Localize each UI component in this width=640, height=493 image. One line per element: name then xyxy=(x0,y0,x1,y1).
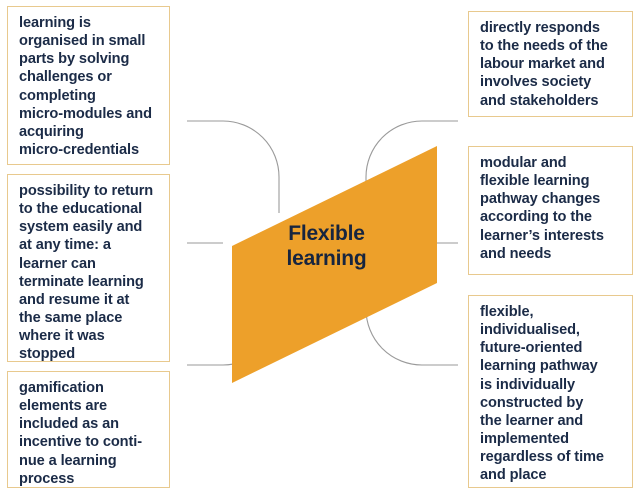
info-box-text: flexible, individualised, future-oriente… xyxy=(480,303,604,485)
info-box-right-3: flexible, individualised, future-oriente… xyxy=(468,295,633,488)
diagram-canvas: learning is organised in small parts by … xyxy=(0,0,640,493)
bracket-top-left-icon xyxy=(187,121,279,213)
info-box-left-2: possibility to return to the educational… xyxy=(7,174,170,362)
info-box-right-2: modular and flexible learning pathway ch… xyxy=(468,146,633,275)
center-graphic-svg xyxy=(185,103,460,383)
info-box-text: directly responds to the needs of the la… xyxy=(480,19,608,110)
flexible-learning-banner xyxy=(232,146,437,383)
info-box-text: gamification elements are included as an… xyxy=(19,379,142,488)
center-graphic: Flexible learning xyxy=(185,103,460,383)
info-box-left-1: learning is organised in small parts by … xyxy=(7,6,170,165)
info-box-right-1: directly responds to the needs of the la… xyxy=(468,11,633,117)
info-box-text: modular and flexible learning pathway ch… xyxy=(480,154,604,263)
info-box-text: learning is organised in small parts by … xyxy=(19,14,152,159)
info-box-left-3: gamification elements are included as an… xyxy=(7,371,170,488)
info-box-text: possibility to return to the educational… xyxy=(19,182,153,364)
